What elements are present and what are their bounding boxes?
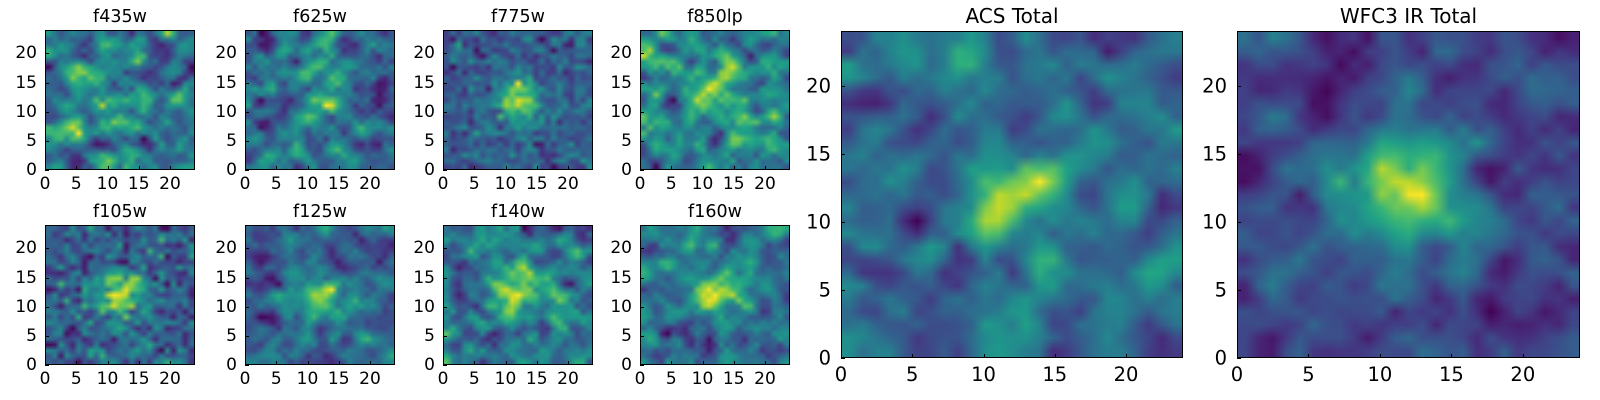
y-tick-label: 10 bbox=[215, 297, 237, 317]
y-tick-label: 5 bbox=[226, 326, 237, 346]
x-tick-label: 20 bbox=[754, 369, 776, 389]
panel-title: WFC3 IR Total bbox=[1237, 4, 1580, 28]
y-tick-mark bbox=[1237, 290, 1241, 291]
y-tick-mark bbox=[640, 112, 644, 113]
panel-f125w: f125w0055101015152020 bbox=[245, 225, 395, 365]
heatmap-image bbox=[46, 226, 194, 364]
x-tick-label: 15 bbox=[526, 369, 548, 389]
x-tick-label: 10 bbox=[692, 174, 714, 194]
x-tick-mark bbox=[308, 166, 309, 170]
y-tick-mark bbox=[640, 336, 644, 337]
x-tick-label: 20 bbox=[557, 369, 579, 389]
y-tick-label: 20 bbox=[1202, 74, 1227, 97]
heatmap-axes bbox=[443, 225, 593, 365]
x-tick-mark bbox=[1055, 354, 1056, 358]
x-tick-label: 10 bbox=[692, 369, 714, 389]
x-tick-mark bbox=[76, 166, 77, 170]
y-tick-mark bbox=[245, 112, 249, 113]
x-tick-label: 20 bbox=[159, 369, 181, 389]
heatmap-image bbox=[444, 226, 592, 364]
x-tick-label: 20 bbox=[754, 174, 776, 194]
x-tick-label: 10 bbox=[297, 369, 319, 389]
y-tick-mark bbox=[1237, 86, 1241, 87]
y-tick-mark bbox=[245, 141, 249, 142]
y-tick-mark bbox=[245, 365, 249, 366]
y-tick-mark bbox=[841, 154, 845, 155]
x-tick-label: 20 bbox=[359, 174, 381, 194]
y-tick-mark bbox=[640, 365, 644, 366]
y-tick-label: 20 bbox=[15, 43, 37, 63]
x-tick-mark bbox=[1451, 354, 1452, 358]
heatmap-image bbox=[842, 32, 1182, 357]
y-tick-mark bbox=[245, 53, 249, 54]
x-tick-mark bbox=[671, 361, 672, 365]
y-tick-label: 10 bbox=[413, 102, 435, 122]
y-tick-label: 5 bbox=[226, 131, 237, 151]
y-tick-mark bbox=[45, 83, 49, 84]
y-tick-label: 15 bbox=[610, 73, 632, 93]
y-tick-mark bbox=[443, 83, 447, 84]
y-tick-mark bbox=[640, 248, 644, 249]
x-tick-label: 0 bbox=[240, 369, 251, 389]
x-tick-label: 5 bbox=[906, 363, 918, 386]
panel-title: f775w bbox=[443, 7, 593, 27]
y-tick-label: 5 bbox=[424, 131, 435, 151]
panel-title: f850lp bbox=[640, 7, 790, 27]
y-tick-mark bbox=[45, 336, 49, 337]
x-tick-label: 0 bbox=[438, 174, 449, 194]
heatmap-axes bbox=[1237, 31, 1580, 358]
y-tick-mark bbox=[45, 365, 49, 366]
heatmap-axes bbox=[841, 31, 1183, 358]
y-tick-mark bbox=[640, 307, 644, 308]
x-tick-mark bbox=[568, 166, 569, 170]
x-tick-mark bbox=[671, 166, 672, 170]
x-tick-mark bbox=[734, 361, 735, 365]
heatmap-axes bbox=[245, 225, 395, 365]
y-tick-mark bbox=[245, 336, 249, 337]
x-tick-mark bbox=[474, 361, 475, 365]
y-tick-mark bbox=[245, 248, 249, 249]
panel-acs-total: ACS Total0055101015152020 bbox=[841, 31, 1183, 358]
x-tick-label: 5 bbox=[666, 174, 677, 194]
x-tick-label: 10 bbox=[971, 363, 996, 386]
x-tick-mark bbox=[1523, 354, 1524, 358]
y-tick-label: 20 bbox=[15, 238, 37, 258]
y-tick-mark bbox=[443, 336, 447, 337]
y-tick-label: 5 bbox=[819, 278, 831, 301]
x-tick-label: 20 bbox=[359, 369, 381, 389]
x-tick-mark bbox=[108, 361, 109, 365]
y-tick-label: 10 bbox=[1202, 210, 1227, 233]
y-tick-label: 0 bbox=[424, 160, 435, 180]
y-tick-label: 0 bbox=[26, 160, 37, 180]
y-tick-mark bbox=[45, 248, 49, 249]
panel-f105w: f105w0055101015152020 bbox=[45, 225, 195, 365]
y-tick-label: 5 bbox=[26, 131, 37, 151]
x-tick-label: 15 bbox=[328, 174, 350, 194]
y-tick-label: 10 bbox=[215, 102, 237, 122]
y-tick-mark bbox=[1237, 222, 1241, 223]
x-tick-label: 15 bbox=[128, 174, 150, 194]
y-tick-mark bbox=[45, 53, 49, 54]
y-tick-mark bbox=[443, 170, 447, 171]
y-tick-mark bbox=[841, 86, 845, 87]
x-tick-mark bbox=[170, 166, 171, 170]
x-tick-label: 10 bbox=[297, 174, 319, 194]
y-tick-mark bbox=[841, 290, 845, 291]
x-tick-label: 15 bbox=[723, 369, 745, 389]
x-tick-mark bbox=[474, 166, 475, 170]
x-tick-label: 5 bbox=[71, 369, 82, 389]
x-tick-mark bbox=[139, 361, 140, 365]
y-tick-label: 0 bbox=[226, 160, 237, 180]
y-tick-mark bbox=[640, 83, 644, 84]
x-tick-label: 0 bbox=[1231, 363, 1243, 386]
x-tick-label: 15 bbox=[1042, 363, 1067, 386]
x-tick-label: 20 bbox=[1114, 363, 1139, 386]
y-tick-label: 0 bbox=[26, 355, 37, 375]
y-tick-label: 10 bbox=[15, 102, 37, 122]
x-tick-label: 5 bbox=[1302, 363, 1314, 386]
y-tick-label: 5 bbox=[621, 326, 632, 346]
y-tick-mark bbox=[443, 307, 447, 308]
heatmap-image bbox=[641, 31, 789, 169]
x-tick-mark bbox=[506, 166, 507, 170]
y-tick-label: 10 bbox=[610, 102, 632, 122]
y-tick-label: 20 bbox=[610, 43, 632, 63]
heatmap-image bbox=[46, 31, 194, 169]
heatmap-image bbox=[246, 31, 394, 169]
y-tick-mark bbox=[45, 170, 49, 171]
x-tick-label: 10 bbox=[495, 174, 517, 194]
y-tick-label: 10 bbox=[610, 297, 632, 317]
heatmap-image bbox=[1238, 32, 1579, 357]
heatmap-axes bbox=[45, 30, 195, 170]
x-tick-mark bbox=[703, 166, 704, 170]
x-tick-mark bbox=[139, 166, 140, 170]
y-tick-mark bbox=[1237, 358, 1241, 359]
panel-f625w: f625w0055101015152020 bbox=[245, 30, 395, 170]
y-tick-label: 0 bbox=[226, 355, 237, 375]
x-tick-label: 0 bbox=[40, 174, 51, 194]
x-tick-label: 5 bbox=[271, 369, 282, 389]
y-tick-mark bbox=[443, 248, 447, 249]
y-tick-label: 15 bbox=[610, 268, 632, 288]
panel-title: f625w bbox=[245, 7, 395, 27]
x-tick-mark bbox=[984, 354, 985, 358]
y-tick-label: 5 bbox=[424, 326, 435, 346]
x-tick-mark bbox=[765, 361, 766, 365]
y-tick-label: 15 bbox=[15, 73, 37, 93]
y-tick-mark bbox=[245, 170, 249, 171]
x-tick-mark bbox=[1126, 354, 1127, 358]
panel-title: ACS Total bbox=[841, 4, 1183, 28]
panel-title: f435w bbox=[45, 7, 195, 27]
x-tick-mark bbox=[76, 361, 77, 365]
y-tick-mark bbox=[245, 278, 249, 279]
y-tick-mark bbox=[1237, 154, 1241, 155]
heatmap-image bbox=[641, 226, 789, 364]
x-tick-label: 0 bbox=[438, 369, 449, 389]
y-tick-label: 15 bbox=[215, 73, 237, 93]
x-tick-mark bbox=[568, 361, 569, 365]
x-tick-label: 15 bbox=[723, 174, 745, 194]
x-tick-mark bbox=[339, 361, 340, 365]
y-tick-mark bbox=[45, 278, 49, 279]
x-tick-mark bbox=[506, 361, 507, 365]
y-tick-mark bbox=[640, 170, 644, 171]
x-tick-mark bbox=[276, 166, 277, 170]
x-tick-label: 10 bbox=[97, 174, 119, 194]
panel-f850lp: f850lp0055101015152020 bbox=[640, 30, 790, 170]
y-tick-label: 0 bbox=[621, 355, 632, 375]
y-tick-label: 5 bbox=[1215, 278, 1227, 301]
x-tick-label: 10 bbox=[495, 369, 517, 389]
x-tick-label: 5 bbox=[271, 174, 282, 194]
y-tick-mark bbox=[443, 365, 447, 366]
x-tick-label: 15 bbox=[328, 369, 350, 389]
panel-title: f160w bbox=[640, 202, 790, 222]
y-tick-mark bbox=[45, 141, 49, 142]
x-tick-mark bbox=[912, 354, 913, 358]
x-tick-label: 10 bbox=[97, 369, 119, 389]
x-tick-label: 15 bbox=[526, 174, 548, 194]
y-tick-label: 0 bbox=[1215, 347, 1227, 370]
heatmap-axes bbox=[245, 30, 395, 170]
x-tick-mark bbox=[734, 166, 735, 170]
x-tick-label: 20 bbox=[1510, 363, 1535, 386]
y-tick-mark bbox=[443, 112, 447, 113]
heatmap-axes bbox=[640, 225, 790, 365]
x-tick-mark bbox=[1308, 354, 1309, 358]
y-tick-label: 0 bbox=[819, 347, 831, 370]
x-tick-mark bbox=[308, 361, 309, 365]
y-tick-mark bbox=[841, 222, 845, 223]
x-tick-mark bbox=[370, 166, 371, 170]
y-tick-label: 20 bbox=[215, 238, 237, 258]
x-tick-mark bbox=[537, 166, 538, 170]
x-tick-label: 15 bbox=[1439, 363, 1464, 386]
y-tick-label: 15 bbox=[806, 142, 831, 165]
y-tick-label: 10 bbox=[15, 297, 37, 317]
x-tick-mark bbox=[370, 361, 371, 365]
y-tick-mark bbox=[245, 83, 249, 84]
x-tick-label: 20 bbox=[159, 174, 181, 194]
figure-canvas: f435w0055101015152020f625w00551010151520… bbox=[0, 0, 1600, 400]
x-tick-label: 0 bbox=[635, 369, 646, 389]
y-tick-mark bbox=[443, 53, 447, 54]
y-tick-label: 5 bbox=[621, 131, 632, 151]
x-tick-label: 15 bbox=[128, 369, 150, 389]
y-tick-mark bbox=[640, 53, 644, 54]
x-tick-label: 20 bbox=[557, 174, 579, 194]
x-tick-mark bbox=[170, 361, 171, 365]
x-tick-mark bbox=[108, 166, 109, 170]
x-tick-mark bbox=[537, 361, 538, 365]
y-tick-label: 0 bbox=[621, 160, 632, 180]
y-tick-label: 20 bbox=[413, 43, 435, 63]
x-tick-mark bbox=[765, 166, 766, 170]
x-tick-label: 5 bbox=[469, 369, 480, 389]
y-tick-mark bbox=[443, 141, 447, 142]
panel-wfc3-ir-total: WFC3 IR Total0055101015152020 bbox=[1237, 31, 1580, 358]
y-tick-label: 20 bbox=[610, 238, 632, 258]
heatmap-image bbox=[246, 226, 394, 364]
x-tick-label: 5 bbox=[469, 174, 480, 194]
heatmap-axes bbox=[640, 30, 790, 170]
x-tick-label: 0 bbox=[40, 369, 51, 389]
x-tick-mark bbox=[276, 361, 277, 365]
y-tick-mark bbox=[640, 141, 644, 142]
y-tick-label: 15 bbox=[15, 268, 37, 288]
y-tick-label: 15 bbox=[215, 268, 237, 288]
x-tick-mark bbox=[1380, 354, 1381, 358]
y-tick-mark bbox=[45, 307, 49, 308]
panel-title: f125w bbox=[245, 202, 395, 222]
y-tick-mark bbox=[45, 112, 49, 113]
y-tick-label: 20 bbox=[806, 74, 831, 97]
heatmap-axes bbox=[45, 225, 195, 365]
y-tick-label: 10 bbox=[806, 210, 831, 233]
y-tick-mark bbox=[443, 278, 447, 279]
y-tick-label: 0 bbox=[424, 355, 435, 375]
panel-title: f140w bbox=[443, 202, 593, 222]
panel-f435w: f435w0055101015152020 bbox=[45, 30, 195, 170]
y-tick-label: 15 bbox=[413, 268, 435, 288]
y-tick-label: 15 bbox=[1202, 142, 1227, 165]
panel-f140w: f140w0055101015152020 bbox=[443, 225, 593, 365]
x-tick-label: 5 bbox=[71, 174, 82, 194]
y-tick-label: 5 bbox=[26, 326, 37, 346]
panel-f160w: f160w0055101015152020 bbox=[640, 225, 790, 365]
x-tick-label: 5 bbox=[666, 369, 677, 389]
y-tick-mark bbox=[841, 358, 845, 359]
y-tick-mark bbox=[640, 278, 644, 279]
y-tick-label: 10 bbox=[413, 297, 435, 317]
x-tick-label: 10 bbox=[1367, 363, 1392, 386]
x-tick-mark bbox=[703, 361, 704, 365]
panel-title: f105w bbox=[45, 202, 195, 222]
x-tick-mark bbox=[339, 166, 340, 170]
y-tick-label: 15 bbox=[413, 73, 435, 93]
heatmap-axes bbox=[443, 30, 593, 170]
y-tick-label: 20 bbox=[215, 43, 237, 63]
y-tick-label: 20 bbox=[413, 238, 435, 258]
panel-f775w: f775w0055101015152020 bbox=[443, 30, 593, 170]
y-tick-mark bbox=[245, 307, 249, 308]
x-tick-label: 0 bbox=[835, 363, 847, 386]
x-tick-label: 0 bbox=[635, 174, 646, 194]
heatmap-image bbox=[444, 31, 592, 169]
x-tick-label: 0 bbox=[240, 174, 251, 194]
